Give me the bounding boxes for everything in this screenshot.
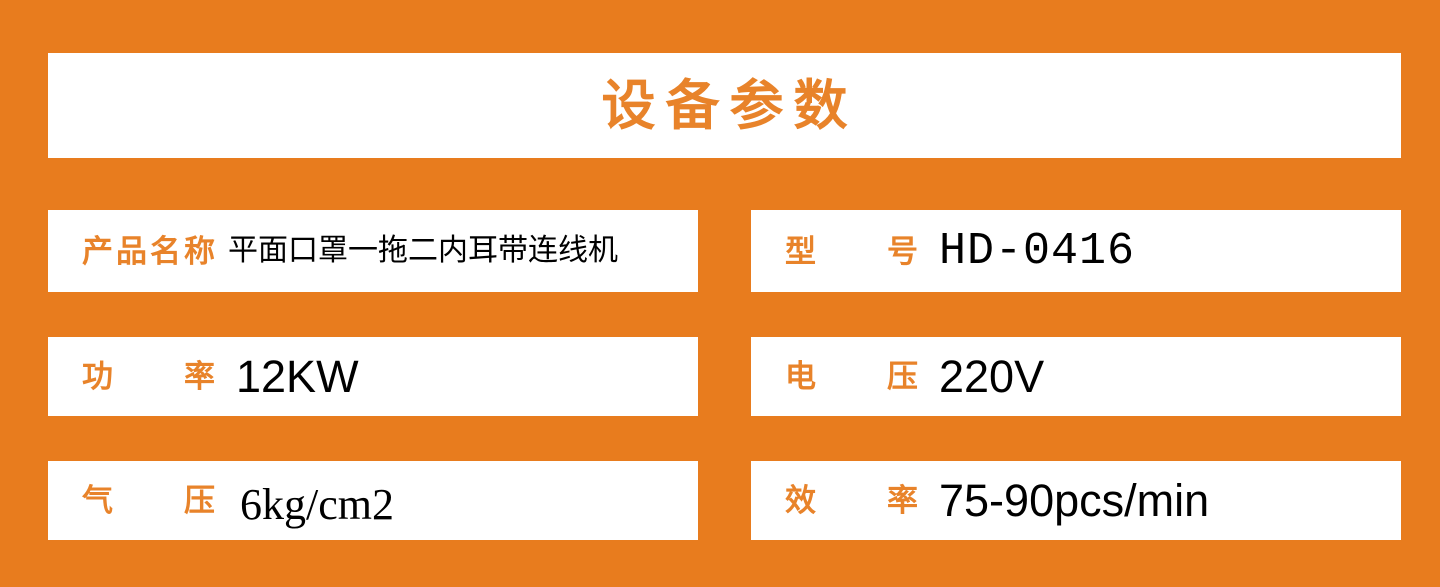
spec-label-model: 型 号	[785, 236, 921, 267]
spec-value-voltage: 220V	[939, 354, 1044, 399]
spec-row: 功 率 12KW 电 压 220V	[48, 337, 1401, 416]
spec-cell-power: 功 率 12KW	[48, 337, 698, 416]
spec-label-air-pressure: 气 压	[82, 485, 218, 516]
page-title: 设备参数	[592, 79, 858, 133]
spec-row: 气 压 6kg/cm2 效 率 75-90pcs/min	[48, 461, 1401, 540]
spec-label-product-name: 产品名称	[82, 236, 218, 267]
spec-value-model: HD-0416	[939, 229, 1135, 274]
spec-value-air-pressure: 6kg/cm2	[240, 483, 394, 527]
spec-row: 产品名称 平面口罩一拖二内耳带连线机 型 号 HD-0416	[48, 210, 1401, 292]
spec-cell-model: 型 号 HD-0416	[751, 210, 1401, 292]
spec-cell-air-pressure: 气 压 6kg/cm2	[48, 461, 698, 540]
spec-rows-container: 产品名称 平面口罩一拖二内耳带连线机 型 号 HD-0416 功 率 12KW …	[48, 210, 1401, 540]
spec-cell-product-name: 产品名称 平面口罩一拖二内耳带连线机	[48, 210, 698, 292]
spec-label-power: 功 率	[82, 361, 218, 392]
spec-value-efficiency: 75-90pcs/min	[939, 478, 1209, 523]
panel-title-bar: 设备参数	[48, 53, 1401, 158]
spec-value-product-name: 平面口罩一拖二内耳带连线机	[228, 236, 618, 266]
spec-label-voltage: 电 压	[785, 361, 921, 392]
spec-value-power: 12KW	[236, 354, 359, 399]
spec-label-efficiency: 效 率	[785, 485, 921, 516]
spec-cell-efficiency: 效 率 75-90pcs/min	[751, 461, 1401, 540]
equipment-parameters-panel: 设备参数 产品名称 平面口罩一拖二内耳带连线机 型 号 HD-0416 功 率 …	[0, 0, 1440, 587]
spec-cell-voltage: 电 压 220V	[751, 337, 1401, 416]
